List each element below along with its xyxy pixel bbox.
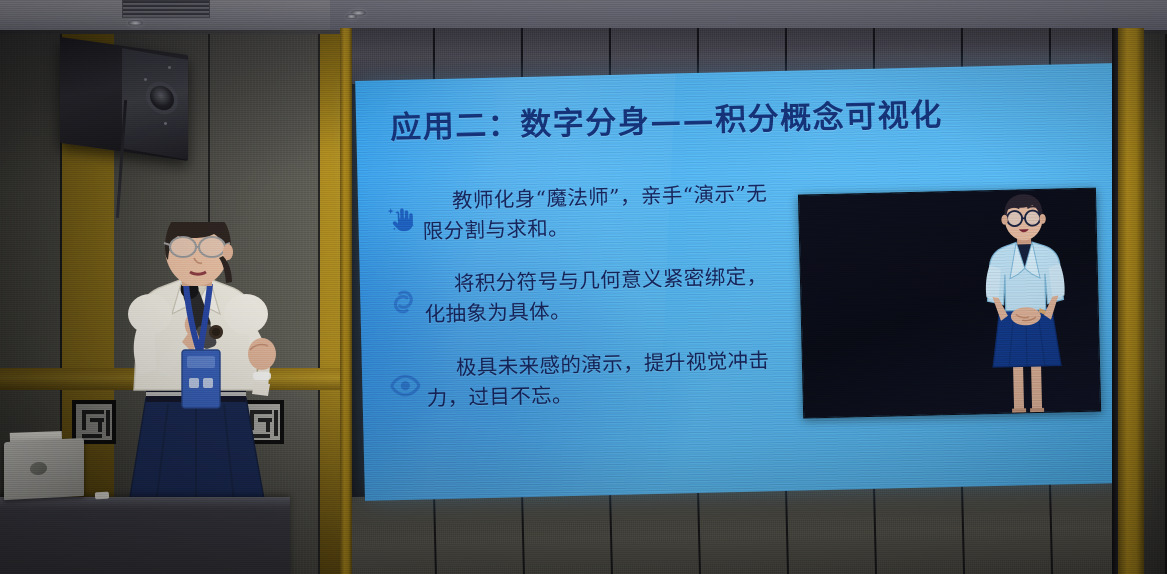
- slide: 应用二：数字分身——积分概念可视化 教师化身“魔法师: [355, 63, 1125, 501]
- gold-pillar-left: [340, 28, 352, 574]
- bullet-text: 将积分符号与几何意义紧密绑定，化抽象为具体。: [424, 262, 787, 330]
- link-chain-icon: [386, 285, 425, 324]
- bullet-text: 教师化身“魔法师”，亲手“演示”无限分割与求和。: [422, 179, 785, 247]
- led-panel-seam: [521, 28, 523, 84]
- list-item: 将积分符号与几何意义紧密绑定，化抽象为具体。: [386, 262, 787, 331]
- led-panel-seam: [609, 491, 614, 574]
- presentation-photo: 应用二：数字分身——积分概念可视化 教师化身“魔法师: [0, 0, 1167, 574]
- list-item: 极具未来感的演示，提升视觉冲击力，过目不忘。: [388, 346, 789, 415]
- speaker-screw: [144, 78, 147, 81]
- wall-panel: [1144, 34, 1167, 574]
- led-panel-seam: [521, 493, 526, 574]
- list-item: 教师化身“魔法师”，亲手“演示”无限分割与求和。: [384, 179, 785, 248]
- presenter: [110, 222, 320, 522]
- speaker-screw: [168, 66, 171, 69]
- pillar-shadow-edge: [1112, 28, 1118, 574]
- ceiling-downlight: [346, 14, 357, 19]
- ceiling-downlight: [128, 20, 143, 26]
- slide-bullet-list: 教师化身“魔法师”，亲手“演示”无限分割与求和。 将积分符号与几何意义紧密绑定，…: [384, 179, 790, 439]
- led-panel-seam: [1049, 481, 1054, 574]
- led-panel-seam: [433, 28, 435, 84]
- presentation-clicker: [95, 492, 109, 500]
- led-panel-seam: [873, 485, 878, 574]
- eye-icon: [388, 368, 427, 407]
- ceiling-air-vent: [122, 0, 210, 18]
- magic-hand-icon: [384, 201, 423, 240]
- slide-title: 应用二：数字分身——积分概念可视化: [390, 89, 943, 147]
- led-panel-seam: [697, 489, 702, 574]
- led-panel-seam: [433, 495, 438, 574]
- avatar: [963, 191, 1088, 419]
- gold-pillar-right: [1118, 28, 1144, 574]
- projected-slide-surface: 应用二：数字分身——积分概念可视化 教师化身“魔法师: [355, 63, 1125, 501]
- speaker-screw: [164, 122, 167, 125]
- led-panel-seam: [785, 487, 790, 574]
- led-panel-seam: [961, 483, 966, 574]
- digital-avatar-video-panel: [798, 188, 1101, 419]
- hp-laptop: [4, 440, 88, 502]
- bullet-text: 极具未来感的演示，提升视觉冲击力，过目不忘。: [426, 346, 789, 414]
- presenter-table: [0, 497, 290, 574]
